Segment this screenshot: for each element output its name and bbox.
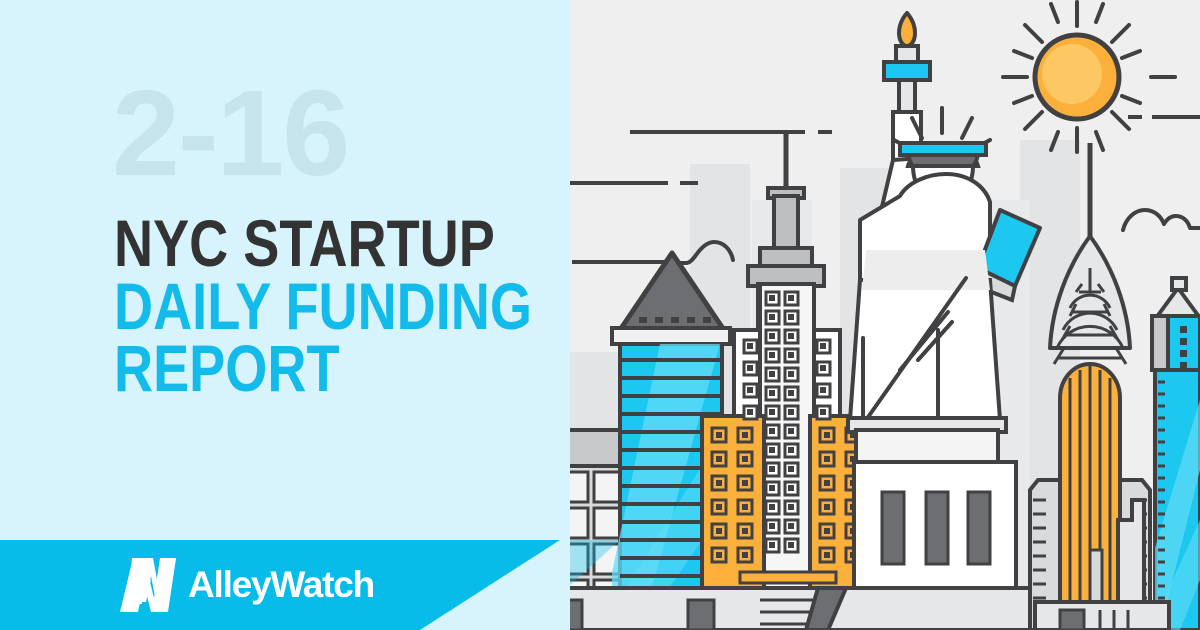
headline-line-1: NYC STARTUP — [114, 212, 532, 275]
title-panel: 2-16 NYC STARTUP DAILY FUNDING REPORT — [0, 0, 570, 630]
aw-monogram-icon — [120, 554, 182, 616]
page-title: NYC STARTUP DAILY FUNDING REPORT — [114, 212, 532, 400]
alleywatch-logo[interactable]: AlleyWatch — [120, 552, 374, 618]
date-stamp: 2-16 — [112, 72, 348, 194]
headline-line-2: DAILY FUNDING — [114, 275, 532, 338]
alleywatch-wordmark: AlleyWatch — [188, 564, 374, 606]
funding-report-card: 2-16 NYC STARTUP DAILY FUNDING REPORT Al… — [0, 0, 1200, 630]
headline-line-3: REPORT — [114, 337, 532, 400]
